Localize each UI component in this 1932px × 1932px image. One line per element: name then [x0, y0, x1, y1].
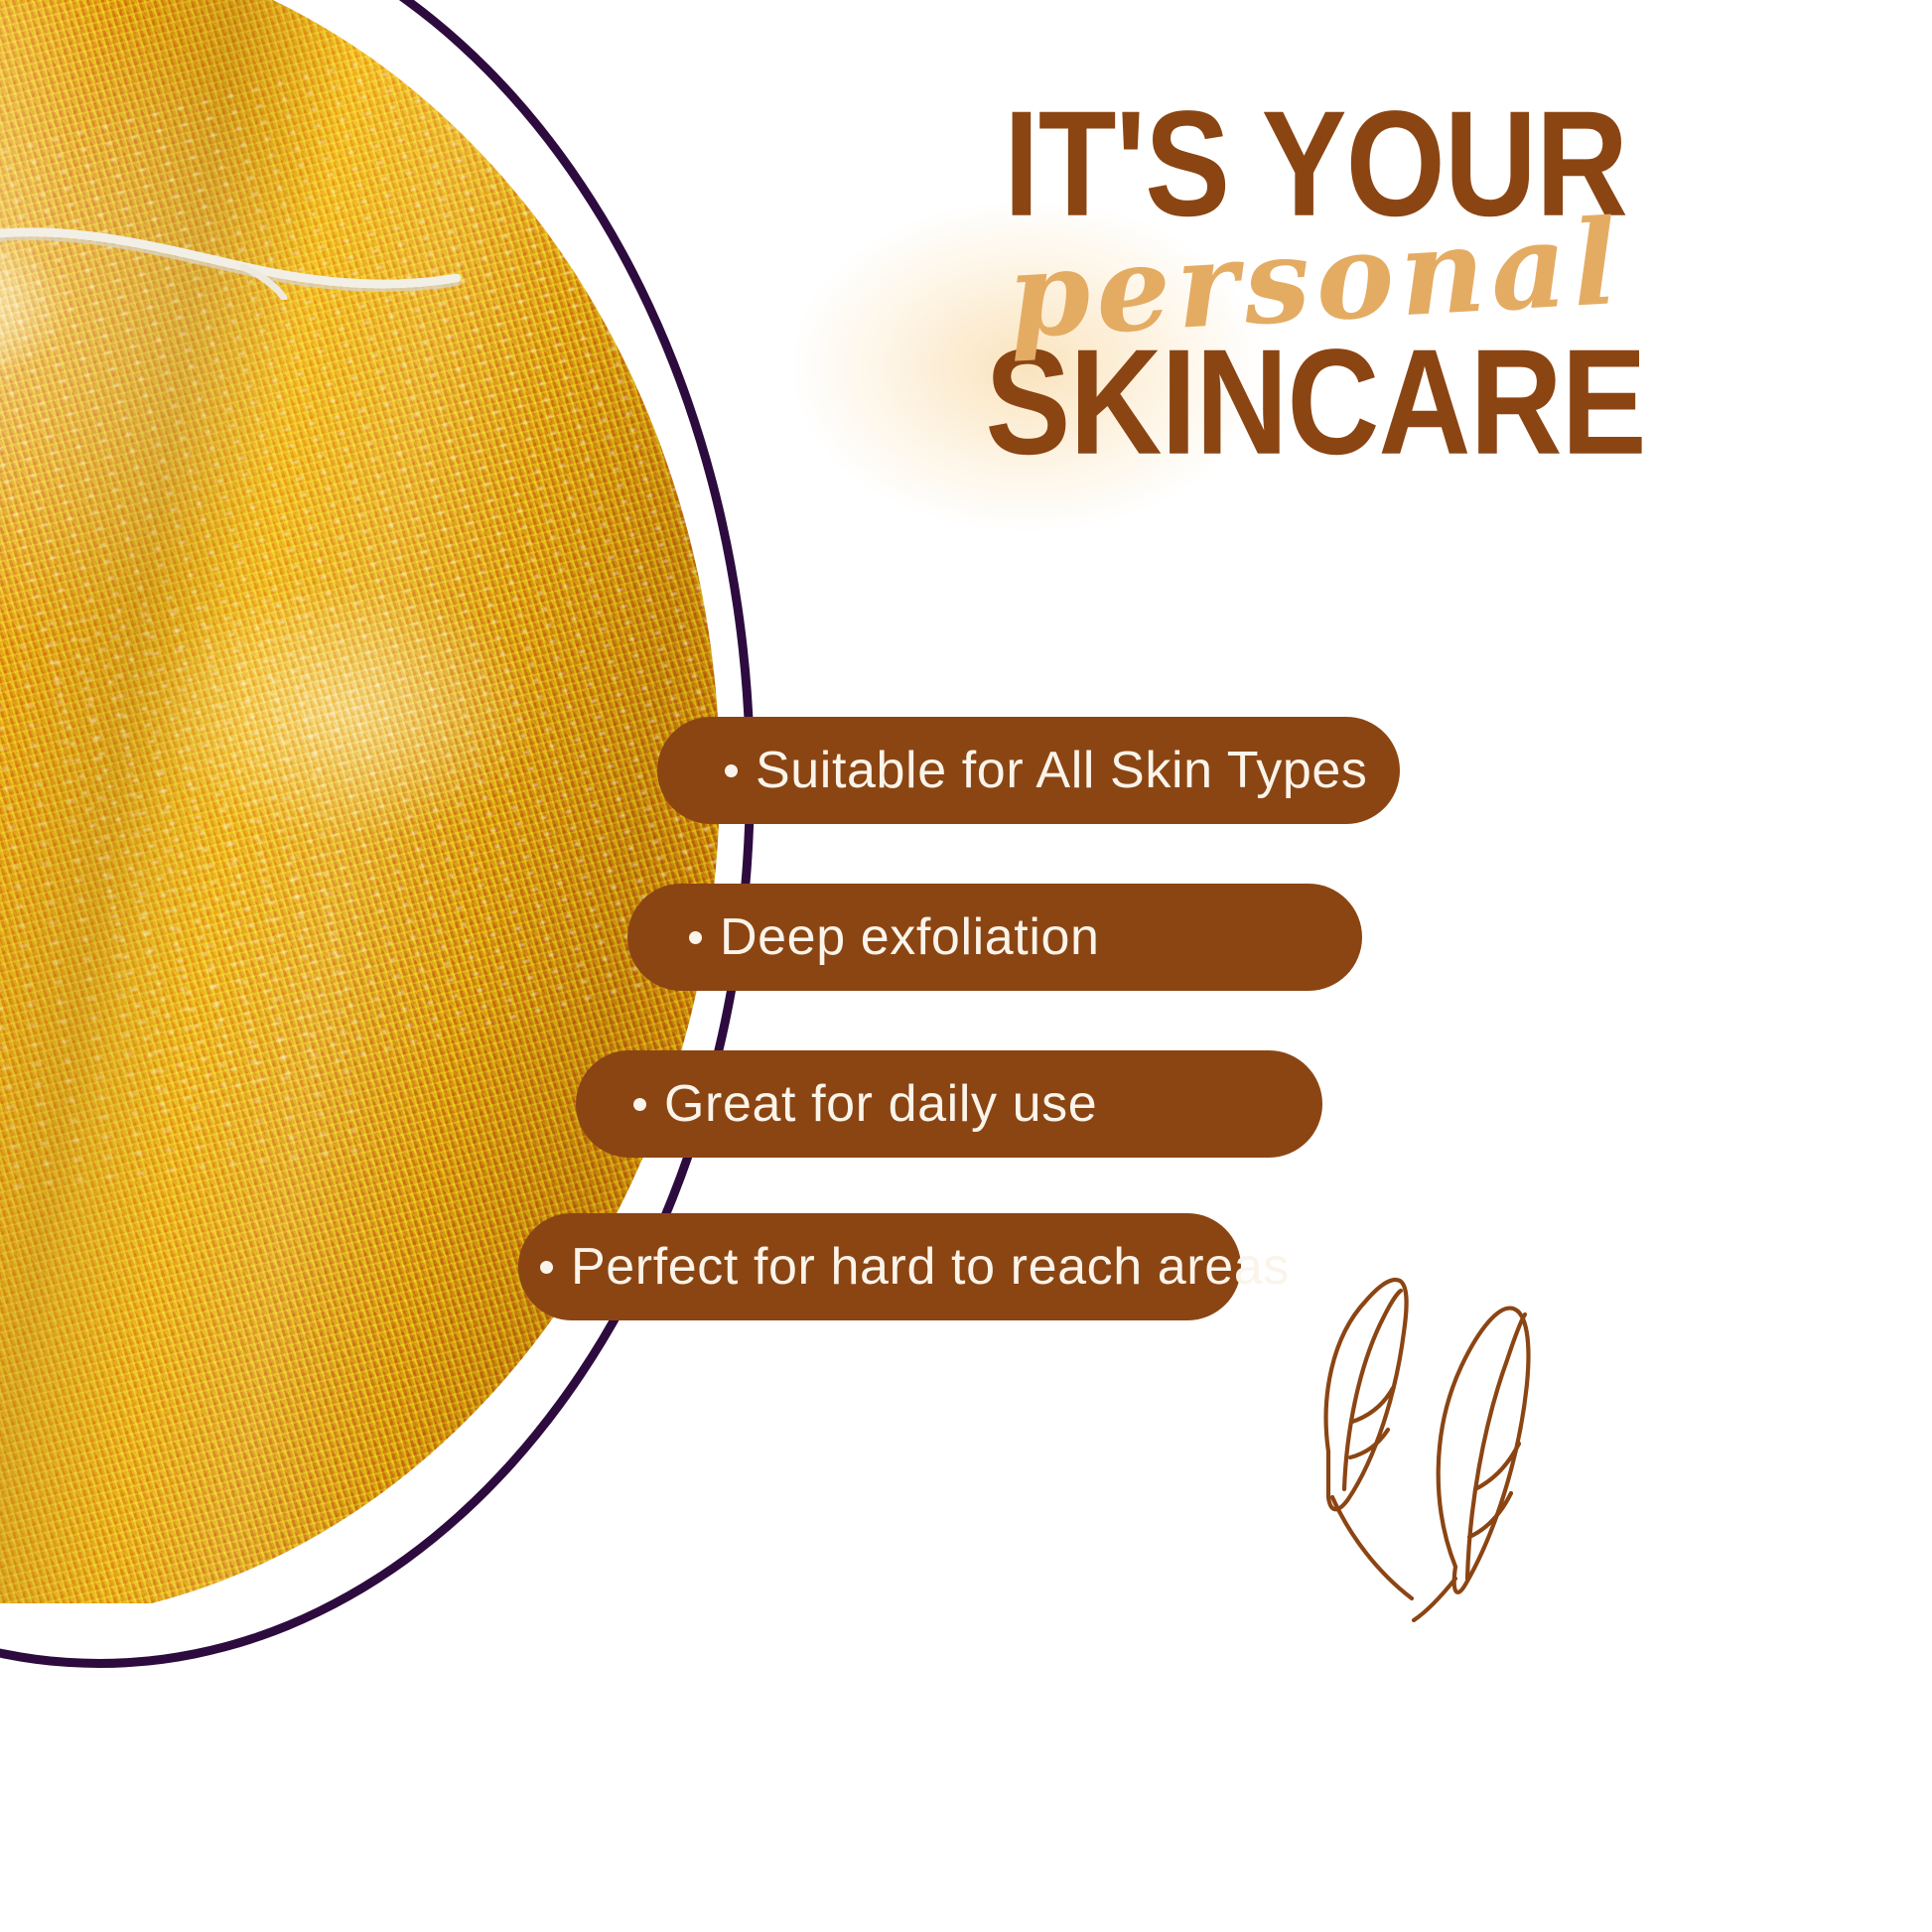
feature-pill-label: Deep exfoliation	[720, 907, 1100, 967]
product-photo-region	[0, 0, 750, 1603]
feature-pill-great-for-daily-use[interactable]: Great for daily use	[576, 1050, 1322, 1158]
bullet-dot-icon	[725, 764, 738, 777]
bullet-dot-icon	[689, 931, 702, 944]
bullet-dot-icon	[633, 1098, 646, 1111]
loofah-open-weave-holes-secondary	[0, 587, 371, 1209]
headline-block: IT'S YOUR personal SKINCARE	[764, 95, 1866, 447]
feature-pill-label: Great for daily use	[664, 1074, 1097, 1134]
feature-pill-text: Suitable for All Skin Types	[657, 741, 1367, 800]
feature-pill-label: Suitable for All Skin Types	[756, 741, 1367, 800]
photo-highlight-glow	[0, 3, 343, 678]
loofah-photo	[0, 0, 720, 1603]
feature-pill-text: Perfect for hard to reach areas	[518, 1237, 1290, 1297]
feature-pill-text: Deep exfoliation	[627, 907, 1100, 967]
feature-pill-text: Great for daily use	[576, 1074, 1097, 1134]
feature-pill-deep-exfoliation[interactable]: Deep exfoliation	[627, 884, 1362, 991]
feature-pill-label: Perfect for hard to reach areas	[571, 1237, 1290, 1297]
leaf-sprig-icon	[1281, 1209, 1678, 1626]
bullet-dot-icon	[540, 1261, 553, 1274]
product-photo-circle-mask	[0, 0, 720, 1603]
feature-pill-perfect-for-hard-to-reach-areas[interactable]: Perfect for hard to reach areas	[518, 1213, 1241, 1320]
feature-pill-suitable-for-all-skin-types[interactable]: Suitable for All Skin Types	[657, 717, 1400, 824]
poster-canvas: IT'S YOUR personal SKINCARE Suitable for…	[0, 0, 1932, 1932]
